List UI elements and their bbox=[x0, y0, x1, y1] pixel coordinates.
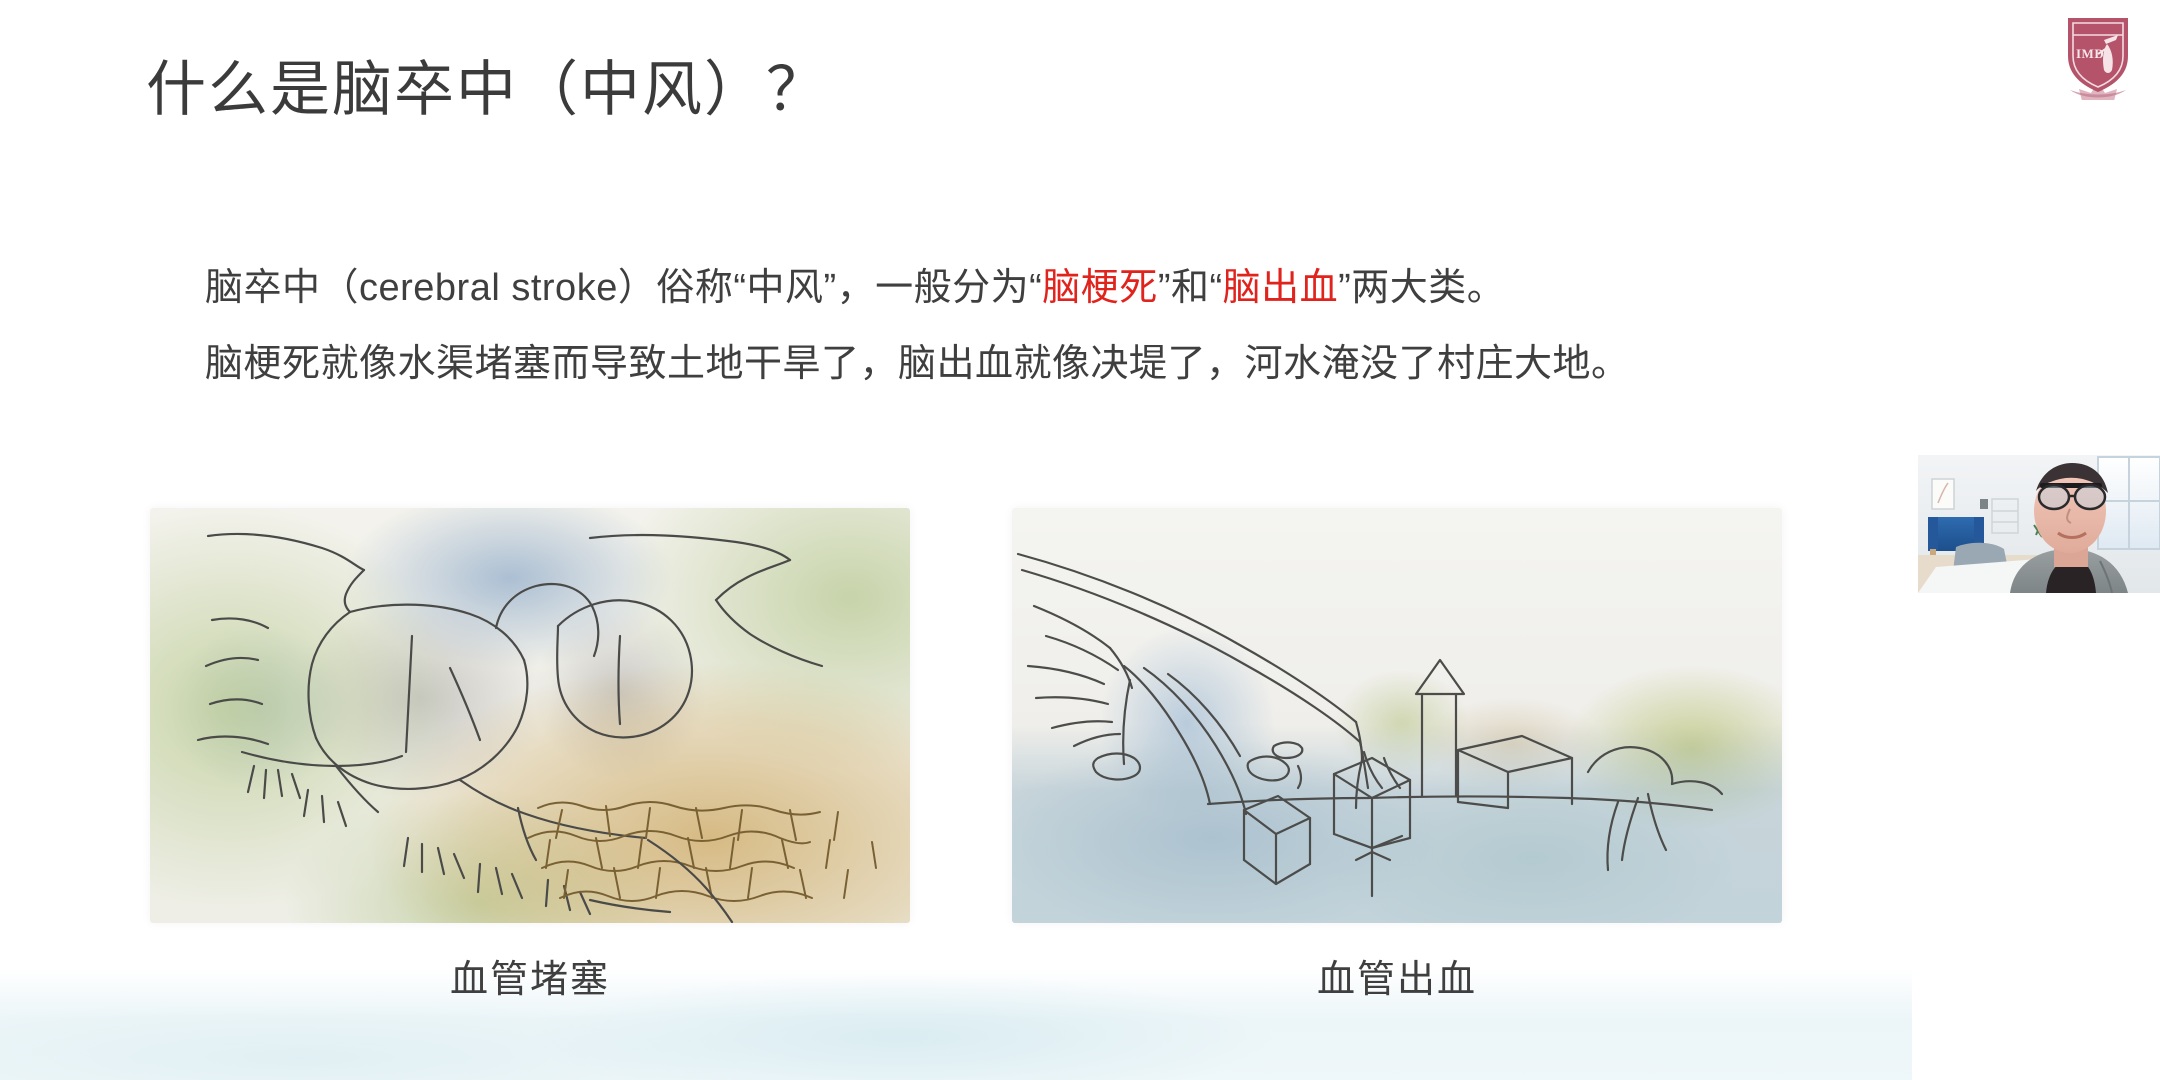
body-paragraph: 脑卒中（cerebral stroke）俗称“中风”，一般分为“脑梗死”和“脑出… bbox=[205, 250, 1965, 402]
page-title: 什么是脑卒中（中风）？ bbox=[146, 52, 828, 127]
figure-vessel-hemorrhage: 血管出血 bbox=[1012, 508, 1782, 1018]
paragraph-line-2: 脑梗死就像水渠堵塞而导致土地干旱了，脑出血就像决堤了，河水淹没了村庄大地。 bbox=[205, 326, 1965, 402]
highlight-term-hemorrhage: 脑出血 bbox=[1223, 267, 1339, 309]
webcam-video-frame bbox=[1918, 455, 2160, 593]
paragraph-line-1: 脑卒中（cerebral stroke）俗称“中风”，一般分为“脑梗死”和“脑出… bbox=[205, 250, 1965, 326]
paragraph-line1-mid: ”和“ bbox=[1158, 267, 1223, 309]
paragraph-line1-pre: 脑卒中（cerebral stroke）俗称“中风”，一般分为“ bbox=[205, 267, 1042, 309]
illustration-blocked-channel bbox=[150, 508, 910, 923]
paragraph-line1-post: ”两大类。 bbox=[1338, 267, 1505, 309]
highlight-term-infarction: 脑梗死 bbox=[1042, 267, 1158, 309]
dam-break-linework-icon bbox=[1012, 508, 1782, 923]
illustration-dam-break-flood bbox=[1012, 508, 1782, 923]
figure-caption-hemorrhage: 血管出血 bbox=[1012, 948, 1782, 1003]
brand-logo: IMD bbox=[2052, 8, 2144, 100]
slide-canvas: 什么是脑卒中（中风）？ 脑卒中（cerebral stroke）俗称“中风”，一… bbox=[0, 0, 2160, 1080]
blocked-channel-linework-icon bbox=[150, 508, 910, 923]
figure-vessel-blockage: 血管堵塞 bbox=[150, 508, 910, 1018]
figure-caption-blockage: 血管堵塞 bbox=[150, 948, 910, 1003]
shield-logo-icon: IMD bbox=[2052, 8, 2144, 100]
presenter-webcam-overlay[interactable] bbox=[1918, 455, 2160, 593]
logo-text: IMD bbox=[2076, 46, 2104, 61]
